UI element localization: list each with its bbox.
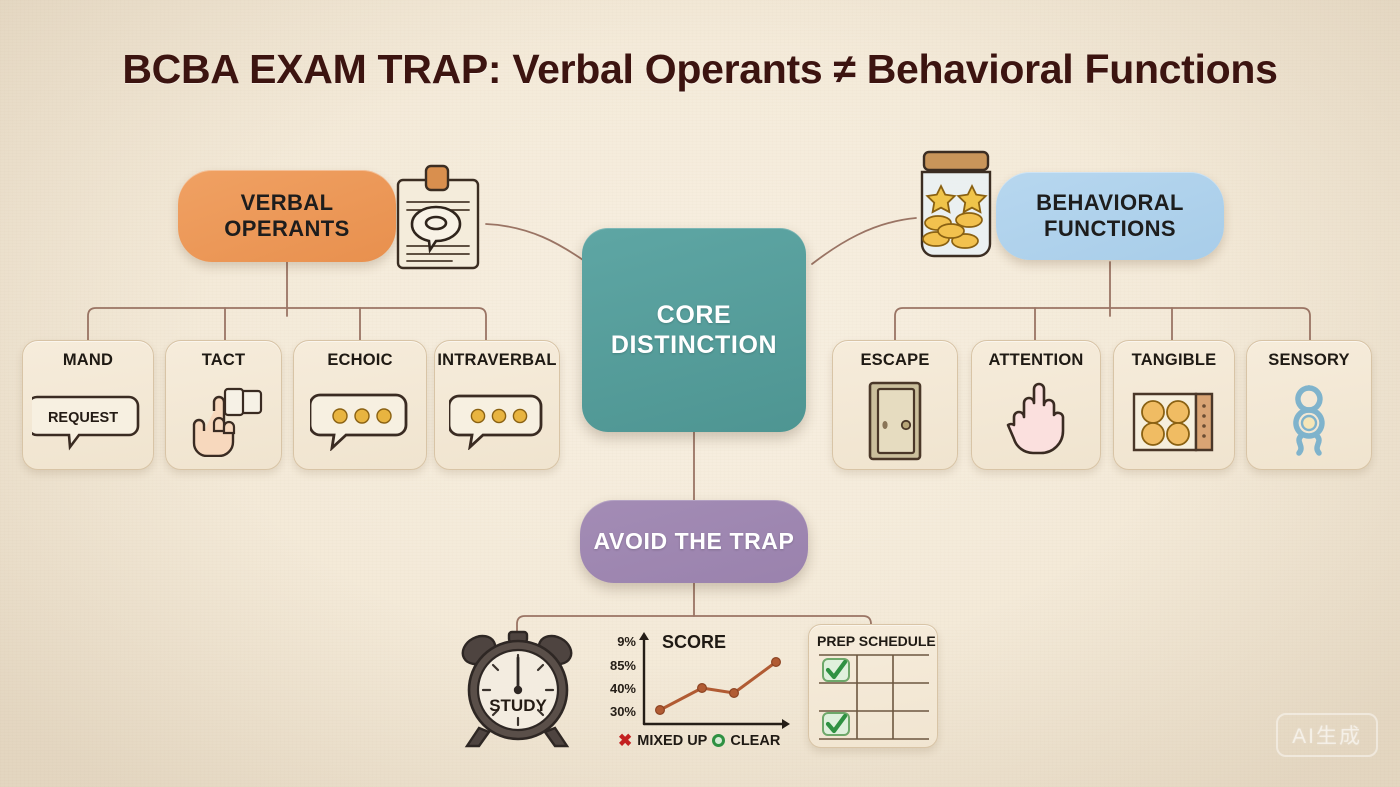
- leaf-label: MAND: [63, 351, 113, 370]
- toy-box-icon: [1128, 384, 1220, 456]
- prep-schedule-card[interactable]: PREP SCHEDULE: [808, 624, 938, 748]
- leaf-icon-wrap: [1247, 370, 1371, 469]
- prep-schedule-title: PREP SCHEDULE: [817, 633, 936, 649]
- speech-bubble-icon: REQUEST: [32, 389, 144, 451]
- leaf-icon-wrap: [166, 370, 281, 469]
- legend-label-mixed-up: MIXED UP: [637, 733, 707, 749]
- verbal-operants-label: VERBAL OPERANTS: [178, 170, 396, 262]
- checklist-grid-icon: [817, 653, 931, 741]
- ytick-label: 9%: [596, 634, 636, 649]
- leaf-card-tact[interactable]: TACT: [165, 340, 282, 470]
- leaf-icon-wrap: [294, 370, 426, 469]
- leaf-card-echoic[interactable]: ECHOIC: [293, 340, 427, 470]
- leaf-label: INTRAVERBAL: [437, 351, 556, 370]
- leaf-label: ECHOIC: [327, 351, 392, 370]
- leaf-label: SENSORY: [1268, 351, 1349, 370]
- leaf-card-attention[interactable]: ATTENTION: [971, 340, 1101, 470]
- verbal-operants-node[interactable]: VERBAL OPERANTS: [178, 170, 396, 262]
- leaf-label: TACT: [202, 351, 246, 370]
- leaf-icon-wrap: REQUEST: [23, 370, 153, 469]
- leaf-card-tangible[interactable]: TANGIBLE: [1113, 340, 1235, 470]
- alarm-clock-icon: STUDY: [455, 628, 581, 750]
- ytick-label: 40%: [596, 681, 636, 696]
- fidget-swirl-icon: [1281, 380, 1337, 460]
- ytick-label: 30%: [596, 704, 636, 719]
- watermark: AI生成: [1276, 713, 1378, 757]
- legend-x-icon: ✖: [618, 732, 632, 749]
- leaf-card-mand[interactable]: MAND REQUEST: [22, 340, 154, 470]
- leaf-card-escape[interactable]: ESCAPE: [832, 340, 958, 470]
- leaf-label: ESCAPE: [860, 351, 929, 370]
- legend-label-clear: CLEAR: [730, 733, 780, 749]
- ytick-label: 85%: [596, 658, 636, 673]
- chart-plot: [636, 628, 796, 732]
- leaf-card-intraverbal[interactable]: INTRAVERBAL: [434, 340, 560, 470]
- pointing-hand-cup-icon: [178, 383, 270, 457]
- door-icon: [862, 379, 928, 461]
- score-chart: SCORE 9% 85% 40% 30% ✖ MIXED UP CLEAR: [596, 626, 796, 752]
- leaf-icon-wrap: [972, 370, 1100, 469]
- legend-circle-icon: [712, 734, 725, 747]
- clock-label: STUDY: [489, 696, 547, 715]
- leaf-card-sensory[interactable]: SENSORY: [1246, 340, 1372, 470]
- bubble-text: REQUEST: [48, 410, 118, 426]
- leaf-icon-wrap: [1114, 370, 1234, 469]
- behavioral-functions-label: BEHAVIORAL FUNCTIONS: [996, 172, 1224, 260]
- avoid-the-trap-label: AVOID THE TRAP: [580, 500, 808, 583]
- chart-legend: ✖ MIXED UP CLEAR: [618, 732, 780, 749]
- clipboard-speech-icon: [390, 162, 486, 272]
- leaf-label: ATTENTION: [989, 351, 1084, 370]
- leaf-label: TANGIBLE: [1132, 351, 1217, 370]
- leaf-icon-wrap: [833, 370, 957, 469]
- token-jar-icon: [906, 146, 1006, 268]
- speech-bubble-dots-icon: [310, 389, 410, 451]
- core-distinction-label: CORE DISTINCTION: [582, 228, 806, 432]
- behavioral-functions-node[interactable]: BEHAVIORAL FUNCTIONS: [996, 172, 1224, 260]
- core-distinction-node[interactable]: CORE DISTINCTION: [582, 228, 806, 432]
- speech-bubble-dots-icon: [449, 390, 545, 450]
- page-title: BCBA EXAM TRAP: Verbal Operants ≠ Behavi…: [0, 46, 1400, 93]
- leaf-icon-wrap: [435, 370, 559, 469]
- raised-hand-icon: [1000, 379, 1072, 461]
- avoid-the-trap-node[interactable]: AVOID THE TRAP: [580, 500, 808, 583]
